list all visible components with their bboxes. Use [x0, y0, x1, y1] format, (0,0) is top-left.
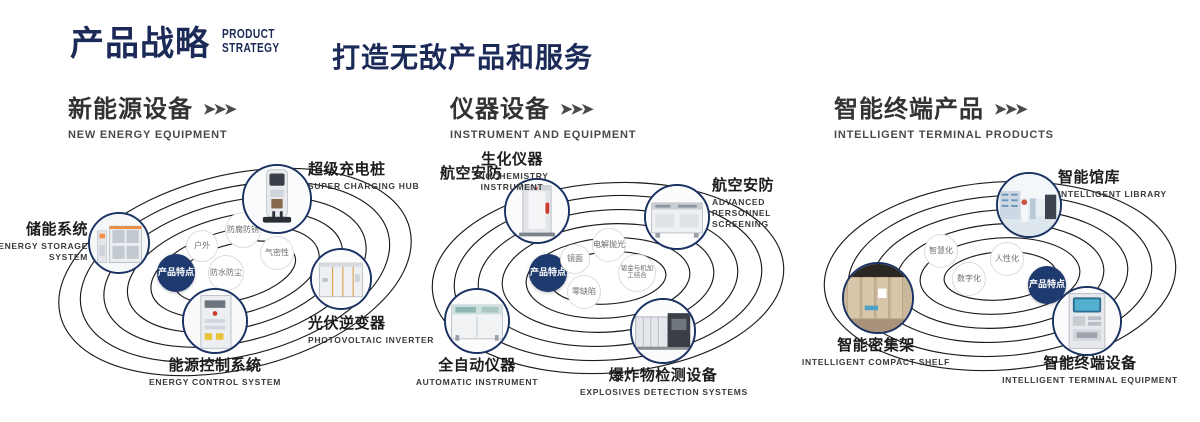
- section-title-en: INTELLIGENT TERMINAL PRODUCTS: [834, 129, 1054, 141]
- feature-bubble-label: 数字化: [957, 275, 981, 283]
- title-en-line2: STRATEGY: [222, 41, 280, 55]
- feature-bubble-humanized: 人性化: [990, 242, 1024, 276]
- caption-cn: 储能系统: [0, 220, 88, 239]
- feature-bubble-label: 零缺陷: [572, 288, 596, 296]
- node-intelligent-compact-shelf[interactable]: [842, 262, 914, 334]
- caption-cn: 生化仪器: [464, 150, 560, 169]
- charging-pile-photo: [244, 166, 310, 232]
- compact-shelf-photo: [844, 264, 912, 332]
- caption-intelligent-library: 智能馆库 INTELLIGENT LIBRARY: [1058, 168, 1167, 200]
- diagram-intelligent-terminal: 智慧化 数字化 人性化 产品特点 智能馆库 INTELLIGENT LIBRA: [800, 150, 1200, 390]
- core-bubble-product-features: 产品特点: [157, 254, 195, 292]
- node-photovoltaic-inverter[interactable]: [310, 248, 372, 310]
- pv-inverter-cabinet-photo: [312, 250, 370, 308]
- title-block: 产品战略 PRODUCT STRATEGY: [70, 24, 296, 64]
- chevron-triple-icon: ➤➤➤: [560, 96, 592, 124]
- caption-cn: 能源控制系统: [120, 356, 310, 375]
- energy-control-cabinet-photo: [184, 290, 246, 352]
- feature-bubble-electropolishing: 电解抛光: [592, 228, 626, 262]
- section-title-text: 智能终端产品: [834, 96, 984, 124]
- caption-en: AUTOMATIC INSTRUMENT: [404, 377, 550, 388]
- node-energy-control-system[interactable]: [182, 288, 248, 354]
- section-heading-new-energy: 新能源设备 ➤➤➤ NEW ENERGY EQUIPMENT: [68, 96, 235, 141]
- caption-cn: 智能馆库: [1058, 168, 1167, 187]
- section-title-cn: 智能终端产品 ➤➤➤: [834, 96, 1054, 124]
- section-title-cn: 仪器设备 ➤➤➤: [450, 96, 636, 124]
- feature-bubble-label: 人性化: [995, 255, 1019, 263]
- feature-bubble-label: 气密性: [265, 249, 289, 257]
- caption-intelligent-terminal-equipment: 智能终端设备 INTELLIGENT TERMINAL EQUIPMENT: [1000, 354, 1180, 386]
- node-intelligent-library[interactable]: [996, 172, 1062, 238]
- caption-en: BIOCHEMISTRY INSTRUMENT: [464, 171, 560, 193]
- page-header: 产品战略 PRODUCT STRATEGY 打造无敌产品和服务: [0, 0, 1200, 88]
- diagram-new-energy: 产品特点 户外 防腐防锈 防水防尘 气密性 储能系统 ENERGY STORAG…: [30, 150, 420, 390]
- feature-bubble-sheetmetal-machining: 钣金与机加工结合: [618, 254, 656, 292]
- caption-explosives-detection-systems: 爆炸物检测设备 EXPLOSIVES DETECTION SYSTEMS: [580, 366, 746, 398]
- feature-bubble-digital: 数字化: [952, 262, 986, 296]
- screening-machine-photo: [646, 186, 708, 248]
- explosives-detector-photo: [632, 300, 694, 362]
- feature-bubble-zero-defect: 零缺陷: [567, 275, 601, 309]
- title-en-line1: PRODUCT: [222, 27, 280, 41]
- caption-energy-control-system: 能源控制系统 ENERGY CONTROL SYSTEM: [120, 356, 310, 388]
- core-bubble-label: 产品特点: [530, 268, 566, 277]
- section-title-en: NEW ENERGY EQUIPMENT: [68, 129, 235, 141]
- caption-en: EXPLOSIVES DETECTION SYSTEMS: [580, 387, 746, 398]
- feature-bubble-intelligent: 智慧化: [924, 234, 958, 268]
- section-title-cn: 新能源设备 ➤➤➤: [68, 96, 235, 124]
- terminal-kiosk-photo: [1054, 288, 1120, 354]
- caption-cn: 智能密集架: [796, 336, 956, 355]
- caption-en: INTELLIGENT TERMINAL EQUIPMENT: [1000, 375, 1180, 386]
- caption-cn: 爆炸物检测设备: [580, 366, 746, 385]
- feature-bubble-label: 镜面: [567, 255, 583, 263]
- page-slogan: 打造无敌产品和服务: [332, 36, 593, 76]
- caption-automatic-instrument: 全自动仪器 AUTOMATIC INSTRUMENT: [404, 356, 550, 388]
- feature-bubble-mirror: 镜面: [560, 244, 590, 274]
- diagram-instrument: 产品特点 镜面 电解抛光 零缺陷 钣金与机加工结合 航空安防 生化仪器 BIOC…: [412, 150, 812, 390]
- caption-en: INTELLIGENT COMPACT SHELF: [796, 357, 956, 368]
- page-title-english: PRODUCT STRATEGY: [222, 27, 280, 55]
- node-super-charging-hub[interactable]: [242, 164, 312, 234]
- page-title: 产品战略: [70, 24, 210, 64]
- feature-bubble-label: 智慧化: [929, 247, 953, 255]
- node-advanced-personnel-screening[interactable]: [644, 184, 710, 250]
- feature-bubble-label: 电解抛光: [593, 241, 625, 249]
- energy-storage-cabinet-photo: [90, 214, 148, 272]
- caption-cn: 全自动仪器: [404, 356, 550, 375]
- node-intelligent-terminal-equipment[interactable]: [1052, 286, 1122, 356]
- caption-en: ENERGY STORAGE SYSTEM: [0, 241, 88, 263]
- caption-en: ENERGY CONTROL SYSTEM: [120, 377, 310, 388]
- library-interior-photo: [998, 174, 1060, 236]
- automatic-instrument-photo: [446, 290, 508, 352]
- section-title-text: 新能源设备: [68, 96, 193, 124]
- caption-en: ADVANCED PERSONNEL SCREENING: [712, 197, 808, 230]
- chevron-triple-icon: ➤➤➤: [994, 96, 1026, 124]
- caption-energy-storage-system: 储能系统 ENERGY STORAGE SYSTEM: [0, 220, 88, 263]
- section-title-text: 仪器设备: [450, 96, 550, 124]
- caption-biochemistry-instrument: 生化仪器 BIOCHEMISTRY INSTRUMENT: [464, 150, 560, 193]
- chevron-triple-icon: ➤➤➤: [203, 96, 235, 124]
- section-title-en: INSTRUMENT AND EQUIPMENT: [450, 129, 636, 141]
- feature-bubble-label: 钣金与机加工结合: [619, 266, 655, 280]
- caption-cn: 航空安防: [712, 176, 808, 195]
- feature-bubble-label: 户外: [194, 242, 210, 250]
- caption-intelligent-compact-shelf: 智能密集架 INTELLIGENT COMPACT SHELF: [796, 336, 956, 368]
- feature-bubble-waterproof: 防水防尘: [208, 255, 244, 291]
- caption-cn: 智能终端设备: [1000, 354, 1180, 373]
- section-heading-instrument: 仪器设备 ➤➤➤ INSTRUMENT AND EQUIPMENT: [450, 96, 636, 141]
- node-explosives-detection-systems[interactable]: [630, 298, 696, 364]
- feature-bubble-outdoor: 户外: [186, 230, 218, 262]
- caption-advanced-personnel-screening: 航空安防 ADVANCED PERSONNEL SCREENING: [712, 176, 808, 230]
- section-heading-intelligent-terminal: 智能终端产品 ➤➤➤ INTELLIGENT TERMINAL PRODUCTS: [834, 96, 1054, 141]
- node-automatic-instrument[interactable]: [444, 288, 510, 354]
- feature-bubble-label: 防水防尘: [210, 269, 242, 277]
- caption-en: INTELLIGENT LIBRARY: [1058, 189, 1167, 200]
- node-energy-storage-system[interactable]: [88, 212, 150, 274]
- feature-bubble-airtight: 气密性: [260, 236, 294, 270]
- core-bubble-label: 产品特点: [158, 268, 194, 277]
